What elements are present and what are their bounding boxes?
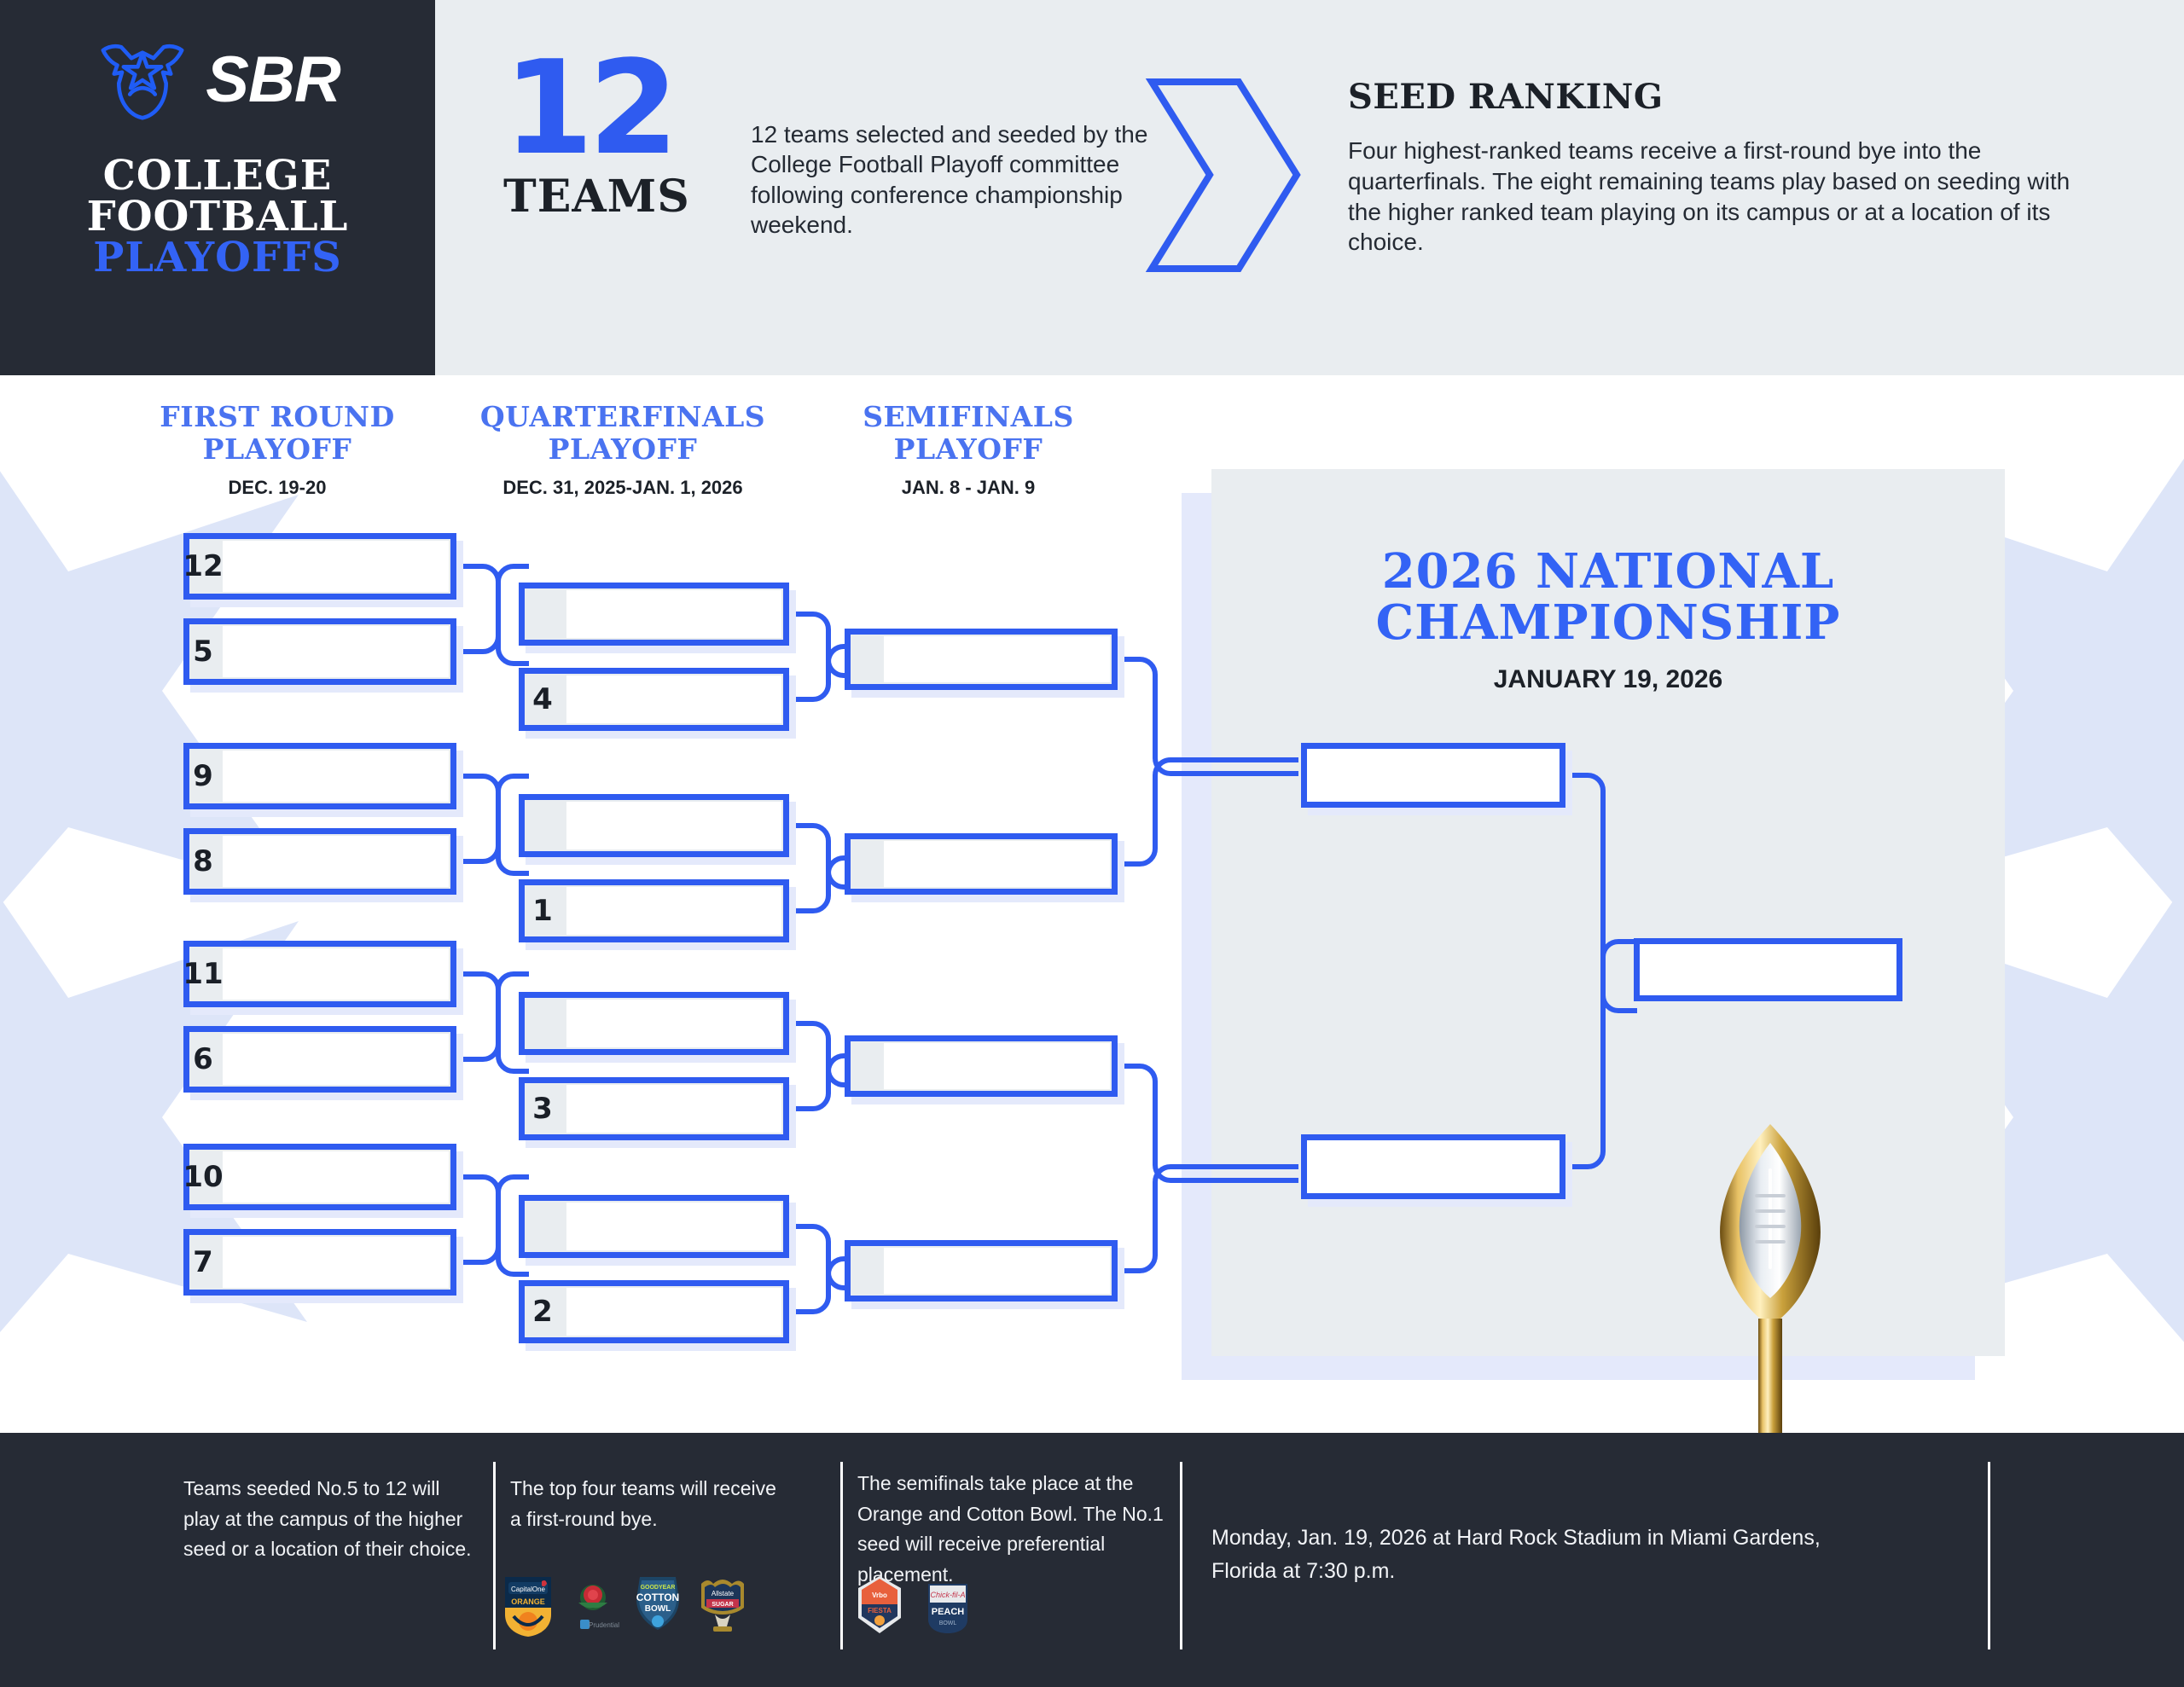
svg-text:BOWL: BOWL: [645, 1604, 671, 1614]
brand-lockup: SBR: [95, 39, 340, 121]
bracket-slot-semifinal-1[interactable]: [845, 629, 1118, 690]
svg-text:COTTON: COTTON: [636, 1591, 679, 1603]
peach-bowl-chick-fil-a-logo: Chick-fil-A PEACH BOWL: [921, 1574, 974, 1638]
bracket-slot-quarterfinal-3a[interactable]: [519, 992, 789, 1055]
svg-text:GOODYEAR: GOODYEAR: [641, 1585, 676, 1591]
seed-number: [845, 1035, 884, 1097]
seed-number: [1301, 743, 1340, 808]
seed-number: 7: [183, 1229, 223, 1296]
bracket-slot-quarterfinal-4b[interactable]: 2: [519, 1280, 789, 1343]
svg-text:BOWL: BOWL: [939, 1620, 957, 1626]
svg-text:SUGAR: SUGAR: [712, 1602, 733, 1608]
bracket-slot-first-round-1[interactable]: 12: [183, 533, 456, 600]
seed-number: 2: [519, 1280, 566, 1343]
seed-number: [519, 1195, 566, 1258]
svg-text:ORANGE: ORANGE: [511, 1597, 545, 1606]
brand-title-line3: PLAYOFFS: [87, 237, 349, 278]
seed-ranking-title: SEED RANKING: [1348, 77, 2099, 117]
seed-number: 5: [183, 618, 223, 685]
footer-note-semifinals: The semifinals take place at the Orange …: [857, 1469, 1199, 1591]
fiesta-bowl-vrbo-logo: Vrbo FIESTA: [853, 1574, 906, 1638]
brand-title-line2: FOOTBALL: [87, 196, 349, 237]
svg-text:Prudential: Prudential: [589, 1621, 619, 1629]
bracket-slot-first-round-4[interactable]: 8: [183, 828, 456, 895]
orange-bowl-capital-one-logo: CapitalOne ORANGE: [502, 1574, 555, 1638]
seed-number: [845, 1240, 884, 1301]
teams-count-label: TEAMS: [503, 171, 768, 223]
bracket-slot-quarterfinal-4a[interactable]: [519, 1195, 789, 1258]
seed-number: 12: [183, 533, 223, 600]
seed-number: 8: [183, 828, 223, 895]
bracket-slot-final-1[interactable]: [1301, 743, 1565, 808]
semifinal-bowl-logo-row: Vrbo FIESTA Chick-fil-A PEACH BOWL: [853, 1574, 974, 1638]
seed-number: 1: [519, 879, 566, 942]
bull-head-star-icon: [95, 39, 190, 121]
bracket-slot-first-round-2[interactable]: 5: [183, 618, 456, 685]
bracket-stage: FIRST ROUND PLAYOFF DEC. 19-20 QUARTERFI…: [0, 375, 2184, 1433]
seed-ranking-block: SEED RANKING Four highest-ranked teams r…: [1348, 77, 2099, 258]
seed-number: 11: [183, 941, 223, 1007]
bracket-slot-quarterfinal-3b[interactable]: 3: [519, 1077, 789, 1140]
seed-number: [519, 583, 566, 646]
footer-divider-3: [1180, 1462, 1182, 1649]
seed-number: 3: [519, 1077, 566, 1140]
brand-title-line1: COLLEGE: [87, 155, 349, 196]
seed-number: [519, 794, 566, 857]
brand-title: COLLEGE FOOTBALL PLAYOFFS: [87, 155, 349, 278]
footer-divider-4: [1988, 1462, 1990, 1649]
seed-number: 4: [519, 668, 566, 731]
bracket-slot-quarterfinal-1b[interactable]: 4: [519, 668, 789, 731]
bracket-slot-first-round-3[interactable]: 9: [183, 743, 456, 809]
footer-note-quarterfinals: The top four teams will receive a first-…: [510, 1474, 792, 1534]
bracket-slot-final-2[interactable]: [1301, 1134, 1565, 1199]
bracket-slot-semifinal-3[interactable]: [845, 1035, 1118, 1097]
footer-divider-2: [840, 1462, 843, 1649]
bracket-slot-semifinal-4[interactable]: [845, 1240, 1118, 1301]
brand-panel: SBR COLLEGE FOOTBALL PLAYOFFS: [0, 0, 435, 375]
bracket-slot-champion[interactable]: [1634, 938, 1902, 1001]
bracket-slot-first-round-6[interactable]: 6: [183, 1026, 456, 1093]
teams-description: 12 teams selected and seeded by the Coll…: [751, 119, 1152, 240]
seed-number: [845, 833, 884, 895]
brand-logo-text: SBR: [206, 48, 340, 113]
svg-text:CapitalOne: CapitalOne: [511, 1586, 546, 1593]
svg-text:FIESTA: FIESTA: [868, 1607, 892, 1615]
seed-number: [519, 992, 566, 1055]
seed-number: 9: [183, 743, 223, 809]
sugar-bowl-allstate-logo: Allstate SUGAR: [696, 1574, 749, 1638]
seed-number: 6: [183, 1026, 223, 1093]
footer-note-championship-venue: Monday, Jan. 19, 2026 at Hard Rock Stadi…: [1211, 1522, 1860, 1588]
bracket-slot-semifinal-2[interactable]: [845, 833, 1118, 895]
svg-text:Vrbo: Vrbo: [872, 1591, 887, 1599]
bracket-slot-first-round-7[interactable]: 10: [183, 1144, 456, 1210]
bracket-slot-first-round-8[interactable]: 7: [183, 1229, 456, 1296]
bracket-slot-quarterfinal-2a[interactable]: [519, 794, 789, 857]
page-header: SBR COLLEGE FOOTBALL PLAYOFFS 12 TEAMS 1…: [0, 0, 2184, 375]
teams-count-block: 12 TEAMS: [503, 51, 768, 223]
bracket-slot-quarterfinal-1a[interactable]: [519, 583, 789, 646]
svg-text:Allstate: Allstate: [712, 1590, 735, 1597]
double-chevron-right-icon: [1143, 75, 1305, 275]
seed-ranking-body: Four highest-ranked teams receive a firs…: [1348, 136, 2099, 258]
seed-number: [845, 629, 884, 690]
svg-text:PEACH: PEACH: [932, 1607, 965, 1617]
seed-number: [1634, 938, 1673, 1001]
seed-number: 10: [183, 1144, 223, 1210]
svg-text:Chick-fil-A: Chick-fil-A: [930, 1591, 965, 1599]
rose-bowl-prudential-logo: Prudential: [566, 1574, 619, 1638]
bracket-slot-quarterfinal-2b[interactable]: 1: [519, 879, 789, 942]
page-footer: Teams seeded No.5 to 12 will play at the…: [0, 1433, 2184, 1687]
quarterfinal-bowl-logo-row: CapitalOne ORANGE Prudential: [502, 1574, 749, 1638]
teams-count-number: 12: [503, 51, 768, 165]
cotton-bowl-goodyear-logo: GOODYEAR COTTON BOWL: [631, 1574, 684, 1638]
bracket-slot-first-round-5[interactable]: 11: [183, 941, 456, 1007]
footer-note-first-round: Teams seeded No.5 to 12 will play at the…: [183, 1474, 473, 1565]
footer-divider-1: [493, 1462, 496, 1649]
seed-number: [1301, 1134, 1340, 1199]
